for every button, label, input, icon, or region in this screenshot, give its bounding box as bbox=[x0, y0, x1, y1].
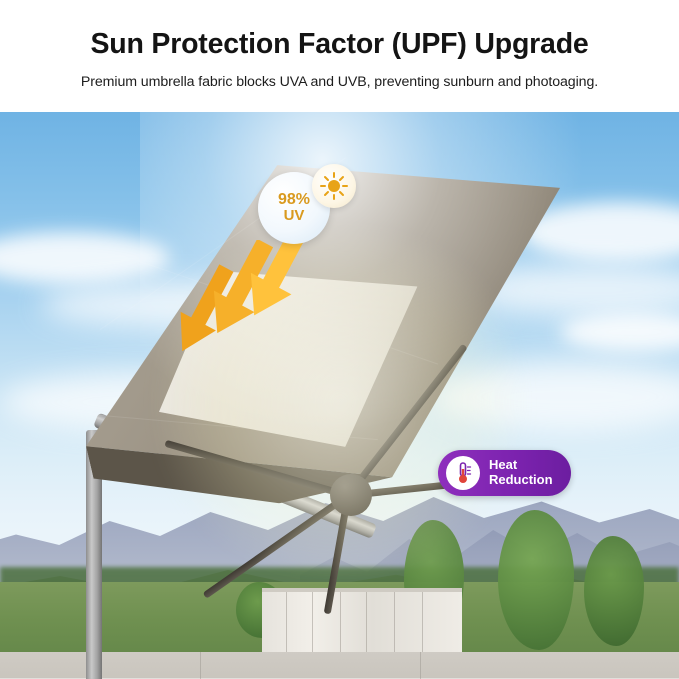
sun-icon bbox=[319, 171, 349, 201]
heat-reduction-badge: Heat Reduction bbox=[438, 450, 571, 496]
header-band: Sun Protection Factor (UPF) Upgrade Prem… bbox=[0, 0, 679, 112]
thermometer-icon bbox=[452, 461, 474, 485]
heat-reduction-label: Heat Reduction bbox=[489, 458, 553, 487]
uv-text-label: UV bbox=[284, 208, 305, 225]
page-subtitle: Premium umbrella fabric blocks UVA and U… bbox=[0, 74, 679, 90]
sun-badge bbox=[312, 164, 356, 208]
page-title: Sun Protection Factor (UPF) Upgrade bbox=[0, 28, 679, 61]
uv-percent-label: 98% bbox=[278, 192, 310, 208]
product-infographic: Sun Protection Factor (UPF) Upgrade Prem… bbox=[0, 0, 679, 679]
heat-icon-wrapper bbox=[446, 456, 480, 490]
product-photo: 98% UV Heat Reduction bbox=[0, 112, 679, 679]
